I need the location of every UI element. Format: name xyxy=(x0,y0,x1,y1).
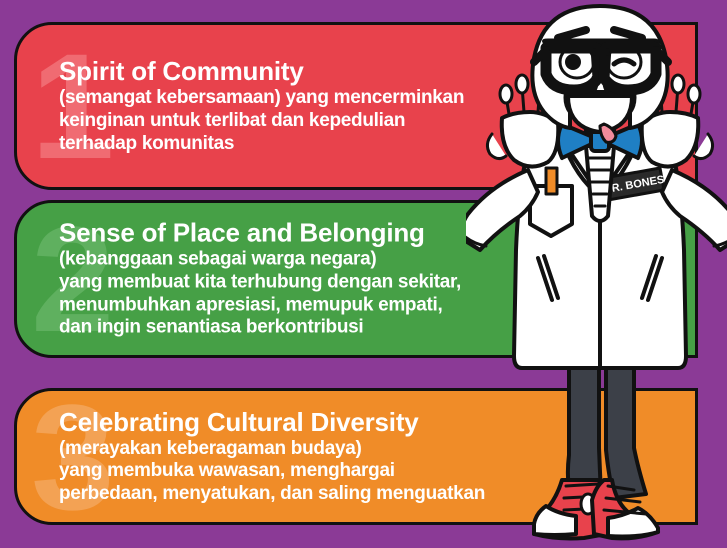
info-card-3: 3 Celebrating Cultural Diversity (meraya… xyxy=(14,388,698,525)
card-description-line: keinginan untuk terlibat dan kepedulian xyxy=(59,110,685,133)
card-title-1: Spirit of Community xyxy=(59,57,685,85)
card-body-3: Celebrating Cultural Diversity (merayaka… xyxy=(59,407,685,505)
card-description-line: (kebanggaan sebagai warga negara) xyxy=(59,248,685,271)
card-description-line: dan ingin senantiasa berkontribusi xyxy=(59,317,685,340)
card-description-line: menumbuhkan apresiasi, memupuk empati, xyxy=(59,294,685,317)
poster-canvas: 1 Spirit of Community (semangat kebersam… xyxy=(0,0,727,548)
card-description-1: (semangat kebersamaan) yang mencerminkan… xyxy=(59,87,685,155)
card-description-line: perbedaan, menyatukan, dan saling mengua… xyxy=(59,483,685,506)
card-body-2: Sense of Place and Belonging (kebanggaan… xyxy=(59,218,685,339)
card-description-line: yang membuka wawasan, menghargai xyxy=(59,460,685,483)
info-card-2: 2 Sense of Place and Belonging (kebangga… xyxy=(14,200,698,358)
card-description-3: (merayakan keberagaman budaya) yang memb… xyxy=(59,437,685,505)
card-description-line: terhadap komunitas xyxy=(59,132,685,155)
info-card-1: 1 Spirit of Community (semangat kebersam… xyxy=(14,22,698,190)
card-description-line: yang membuat kita terhubung dengan sekit… xyxy=(59,271,685,294)
card-title-3: Celebrating Cultural Diversity xyxy=(59,407,685,435)
card-body-1: Spirit of Community (semangat kebersamaa… xyxy=(59,57,685,155)
card-description-line: (semangat kebersamaan) yang mencerminkan xyxy=(59,87,685,110)
card-description-line: (merayakan keberagaman budaya) xyxy=(59,437,685,460)
card-title-2: Sense of Place and Belonging xyxy=(59,218,685,246)
card-description-2: (kebanggaan sebagai warga negara) yang m… xyxy=(59,248,685,339)
